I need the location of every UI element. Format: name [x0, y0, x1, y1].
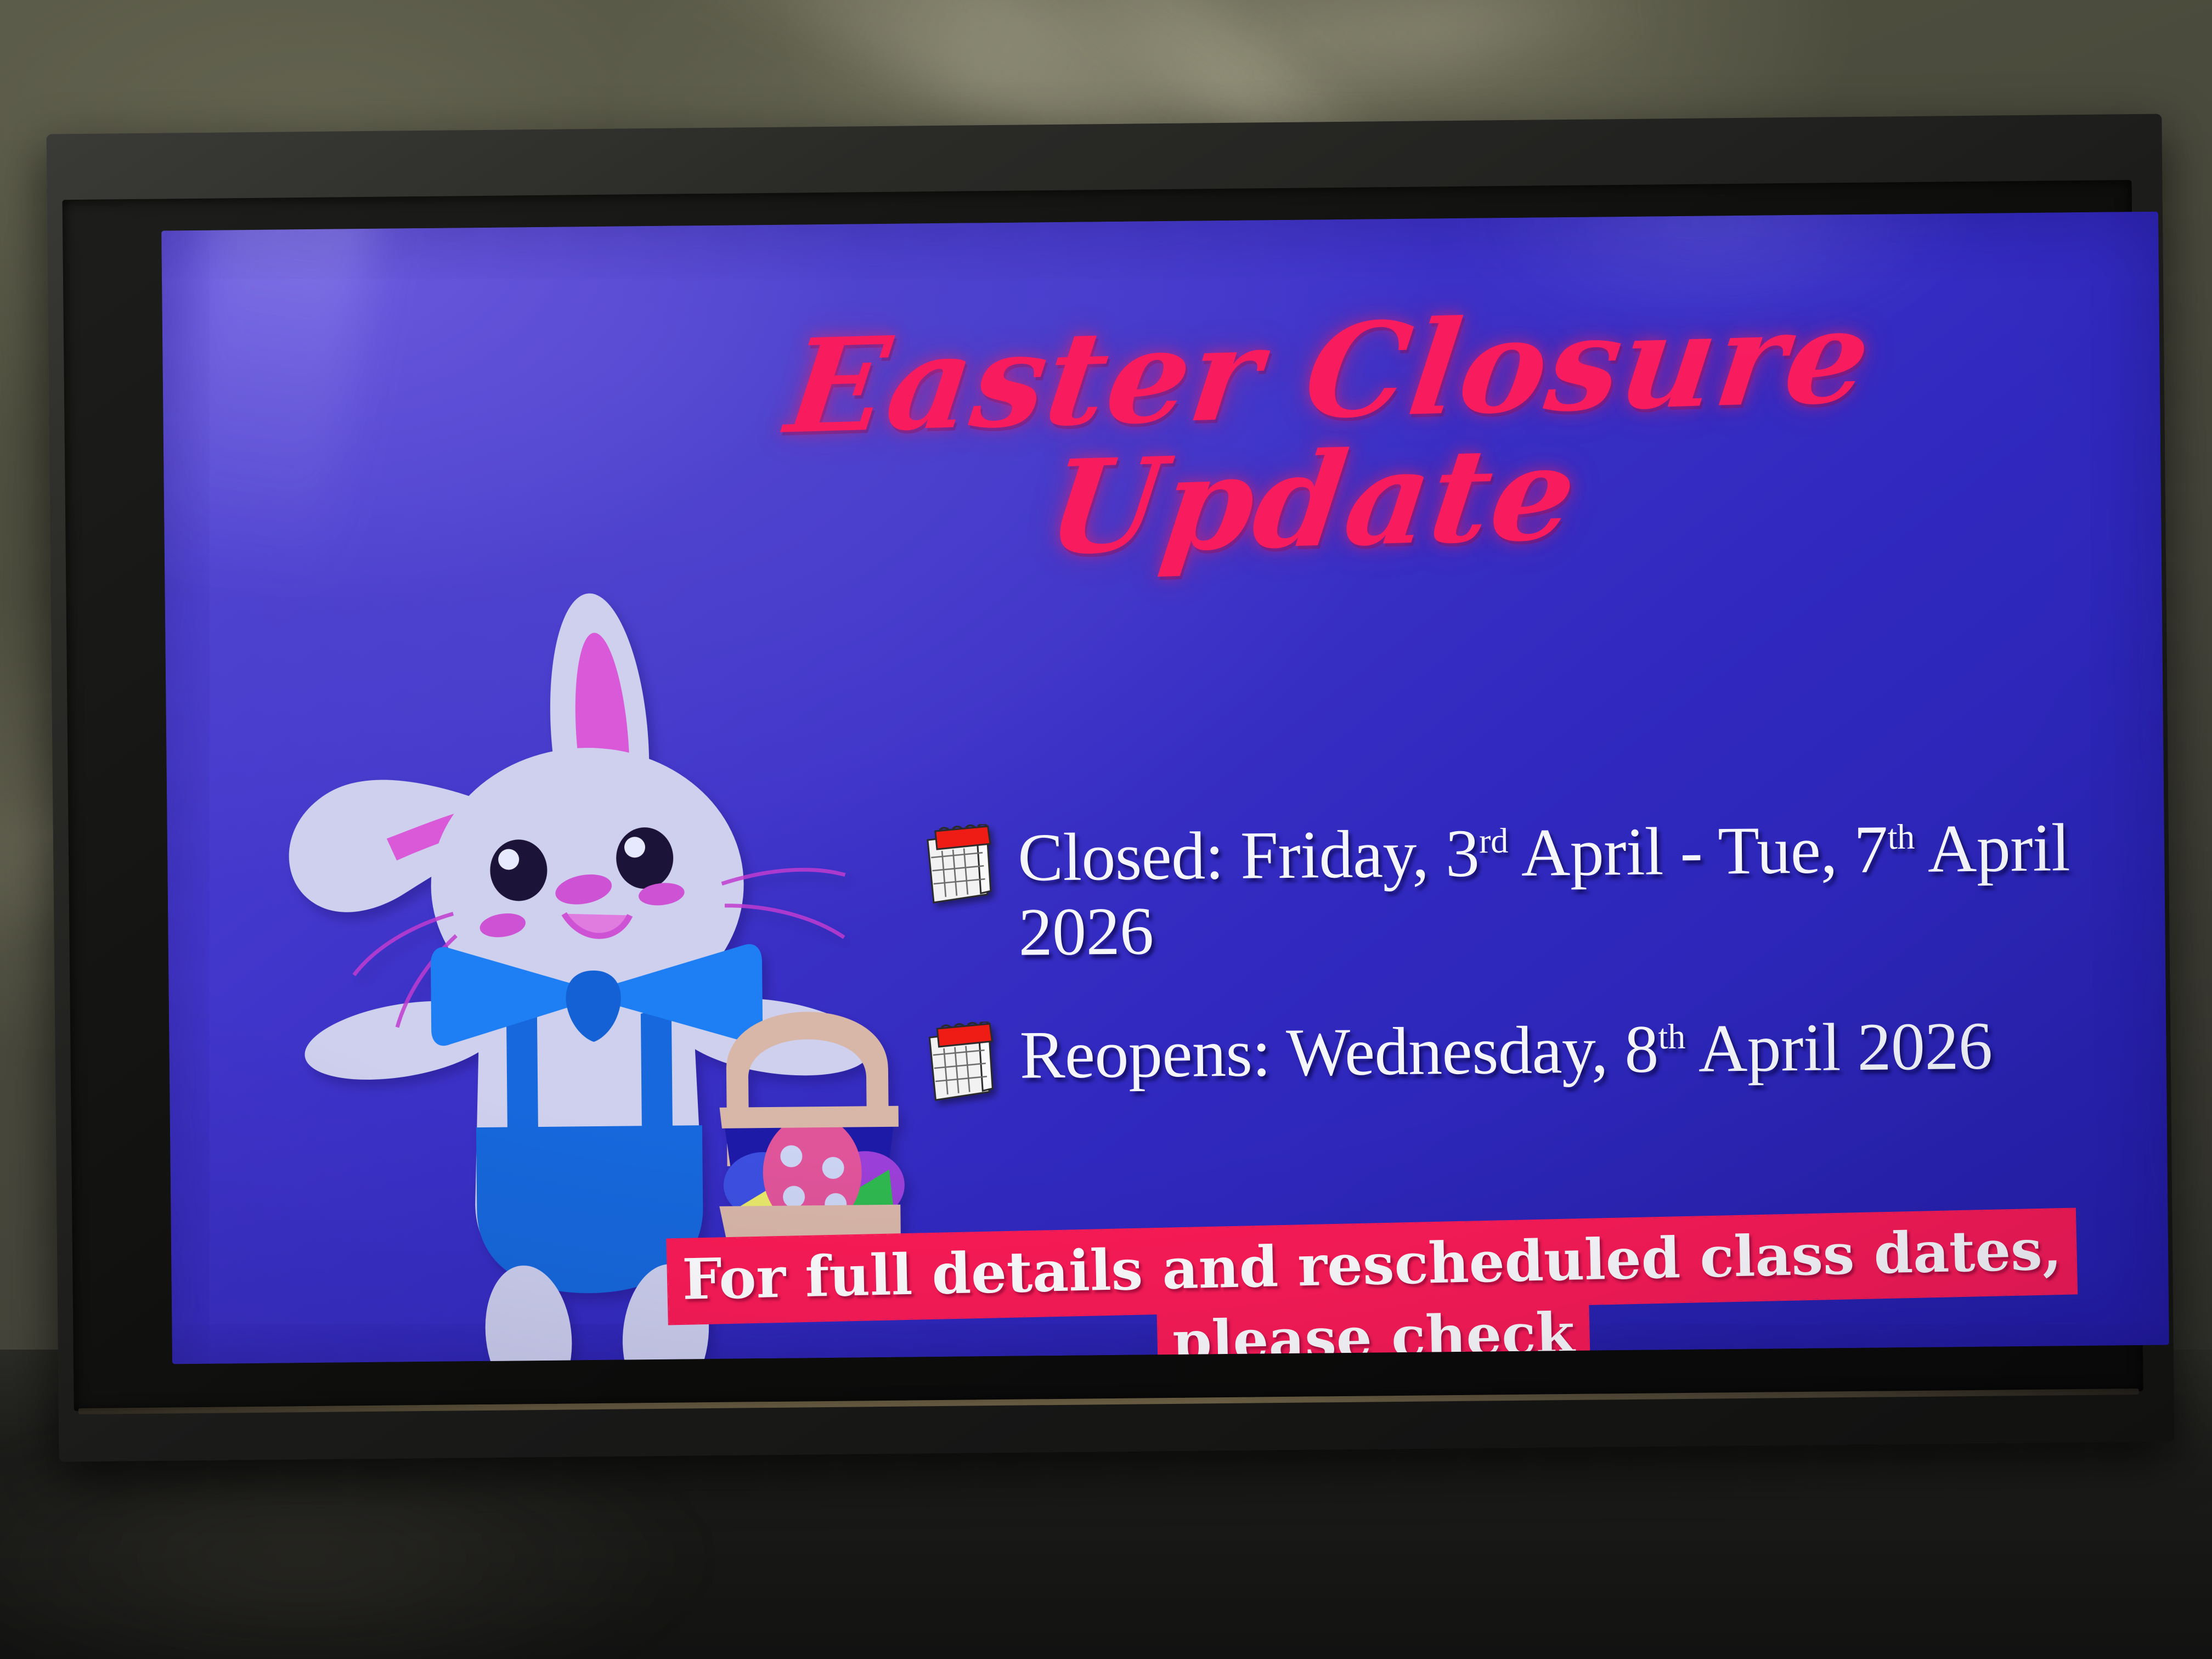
bunny-eye-highlight-right: [624, 837, 645, 857]
bullet-closed-dates: Closed: Friday, 3rd April - Tue, 7th Apr…: [919, 809, 2169, 971]
bullet-text: Reopens: Wednesday, 8th April 2026: [1019, 1009, 1993, 1093]
bullet-text-suffix: April 2026: [1685, 1008, 1993, 1086]
bullet-text-prefix: Reopens: Wednesday, 8: [1019, 1011, 1658, 1092]
easter-basket-rim: [720, 1106, 899, 1128]
screen-glare: [161, 212, 382, 591]
easter-basket-base: [719, 1205, 901, 1239]
student-email-banner: For full details and rescheduled class d…: [658, 1213, 2089, 1364]
bullet-text-prefix: Closed: Friday, 3: [1018, 816, 1480, 895]
calendar-icon: [919, 824, 996, 907]
light-streak: [1237, 0, 1659, 89]
tv-screen[interactable]: Easter Closure Update: [161, 212, 2169, 1364]
page-title: Easter Closure Update: [655, 289, 1987, 584]
calendar-icon: [921, 1022, 998, 1104]
bullet-ordinal: th: [1887, 817, 1915, 856]
bullet-text: Closed: Friday, 3rd April - Tue, 7th Apr…: [1018, 809, 2169, 970]
bullet-ordinal: th: [1658, 1017, 1685, 1056]
room-scene: Easter Closure Update: [0, 0, 2212, 1659]
bullet-ordinal: rd: [1479, 821, 1508, 861]
bunny-eye-highlight-left: [498, 849, 519, 870]
bullet-reopen-date: Reopens: Wednesday, 8th April 2026: [921, 1007, 2169, 1104]
bullet-text-middle: April - Tue, 7: [1508, 811, 1888, 890]
television[interactable]: Easter Closure Update: [46, 114, 2174, 1462]
